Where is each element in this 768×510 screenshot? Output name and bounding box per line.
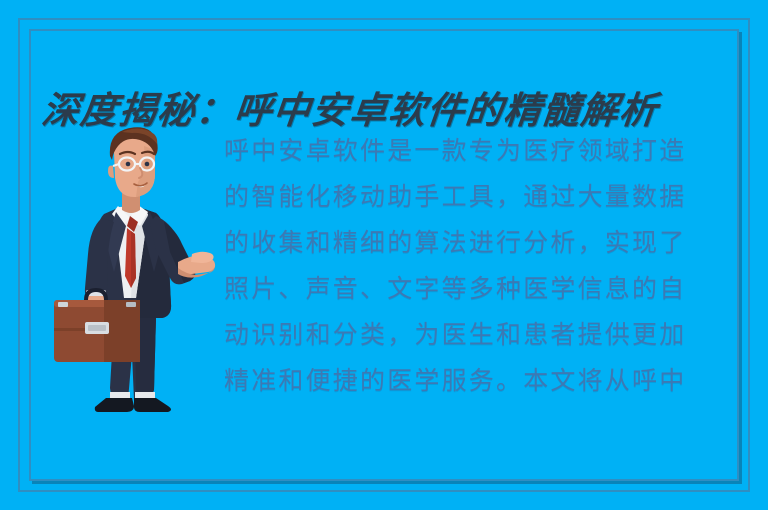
- body-line: 精准和便捷的医学服务。本文将从呼中: [224, 358, 734, 404]
- body-line: 呼中安卓软件是一款专为医疗领域打造: [224, 128, 734, 174]
- body-line: 的智能化移动助手工具，通过大量数据: [224, 174, 734, 220]
- body-line: 照片、声音、文字等多种医学信息的自: [224, 266, 734, 312]
- body-line: 动识别和分类，为医生和患者提供更加: [224, 312, 734, 358]
- page-title: 深度揭秘：呼中安卓软件的精髓解析: [39, 86, 734, 134]
- businessman-illustration: [52, 122, 220, 418]
- article-body: 呼中安卓软件是一款专为医疗领域打造 的智能化移动助手工具，通过大量数据 的收集和…: [224, 128, 734, 404]
- poster-canvas: 深度揭秘：呼中安卓软件的精髓解析 呼中安卓软件是一款专为医疗领域打造 的智能化移…: [0, 0, 768, 510]
- body-line: 的收集和精细的算法进行分析，实现了: [224, 220, 734, 266]
